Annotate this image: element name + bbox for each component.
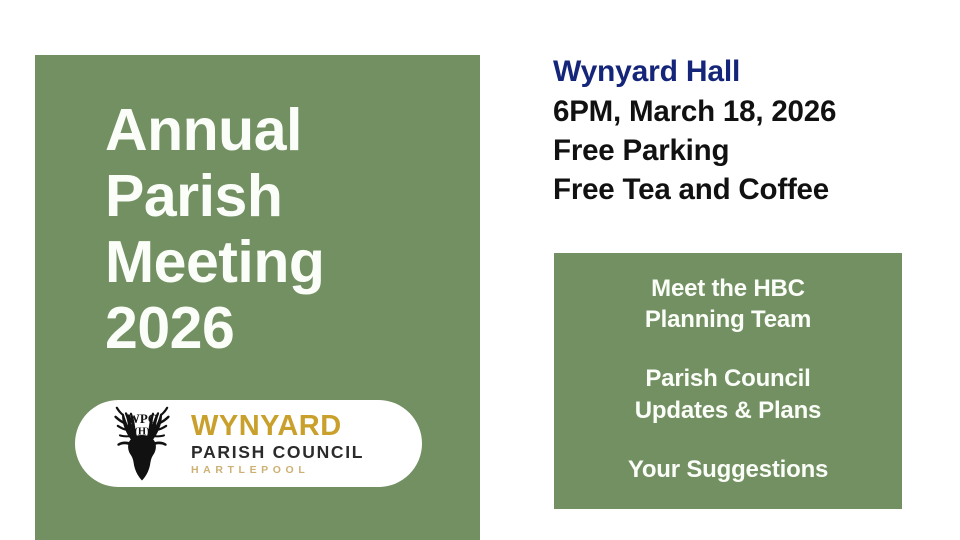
- agenda-item-planning-team: Meet the HBC Planning Team: [645, 273, 811, 335]
- agenda-item-suggestions: Your Suggestions: [628, 454, 828, 485]
- agenda-line: Updates & Plans: [635, 395, 821, 426]
- wynyard-parish-council-logo: WPC (H) WYNYARD PARISH COUNCIL HARTLEPOO…: [75, 400, 422, 487]
- logo-wordmark-primary: WYNYARD: [191, 412, 364, 441]
- venue-datetime: 6PM, March 18, 2026: [553, 92, 953, 131]
- logo-initials-text: WPC: [127, 411, 157, 426]
- venue-details: Wynyard Hall 6PM, March 18, 2026 Free Pa…: [553, 52, 953, 210]
- agenda-line: Planning Team: [645, 304, 811, 335]
- agenda-line: Parish Council: [635, 363, 821, 394]
- stag-head-icon: WPC (H): [99, 406, 185, 482]
- page-title: Annual Parish Meeting 2026: [105, 97, 465, 361]
- venue-refreshments: Free Tea and Coffee: [553, 170, 953, 209]
- venue-parking: Free Parking: [553, 131, 953, 170]
- headline-line-1: Annual: [105, 97, 465, 163]
- logo-wordmark: WYNYARD PARISH COUNCIL HARTLEPOOL: [191, 412, 364, 476]
- agenda-item-council-updates: Parish Council Updates & Plans: [635, 363, 821, 425]
- agenda-green-box: Meet the HBC Planning Team Parish Counci…: [554, 253, 902, 509]
- left-green-panel: Annual Parish Meeting 2026: [35, 55, 480, 540]
- headline-line-4: 2026: [105, 295, 465, 361]
- logo-wordmark-secondary: PARISH COUNCIL: [191, 444, 364, 462]
- venue-name: Wynyard Hall: [553, 52, 953, 92]
- agenda-line: Your Suggestions: [628, 454, 828, 485]
- headline-line-2: Parish: [105, 163, 465, 229]
- agenda-line: Meet the HBC: [645, 273, 811, 304]
- logo-wordmark-tertiary: HARTLEPOOL: [191, 465, 364, 476]
- headline-line-3: Meeting: [105, 229, 465, 295]
- logo-sub-text: (H): [134, 426, 150, 437]
- poster-canvas: Annual Parish Meeting 2026: [0, 0, 960, 540]
